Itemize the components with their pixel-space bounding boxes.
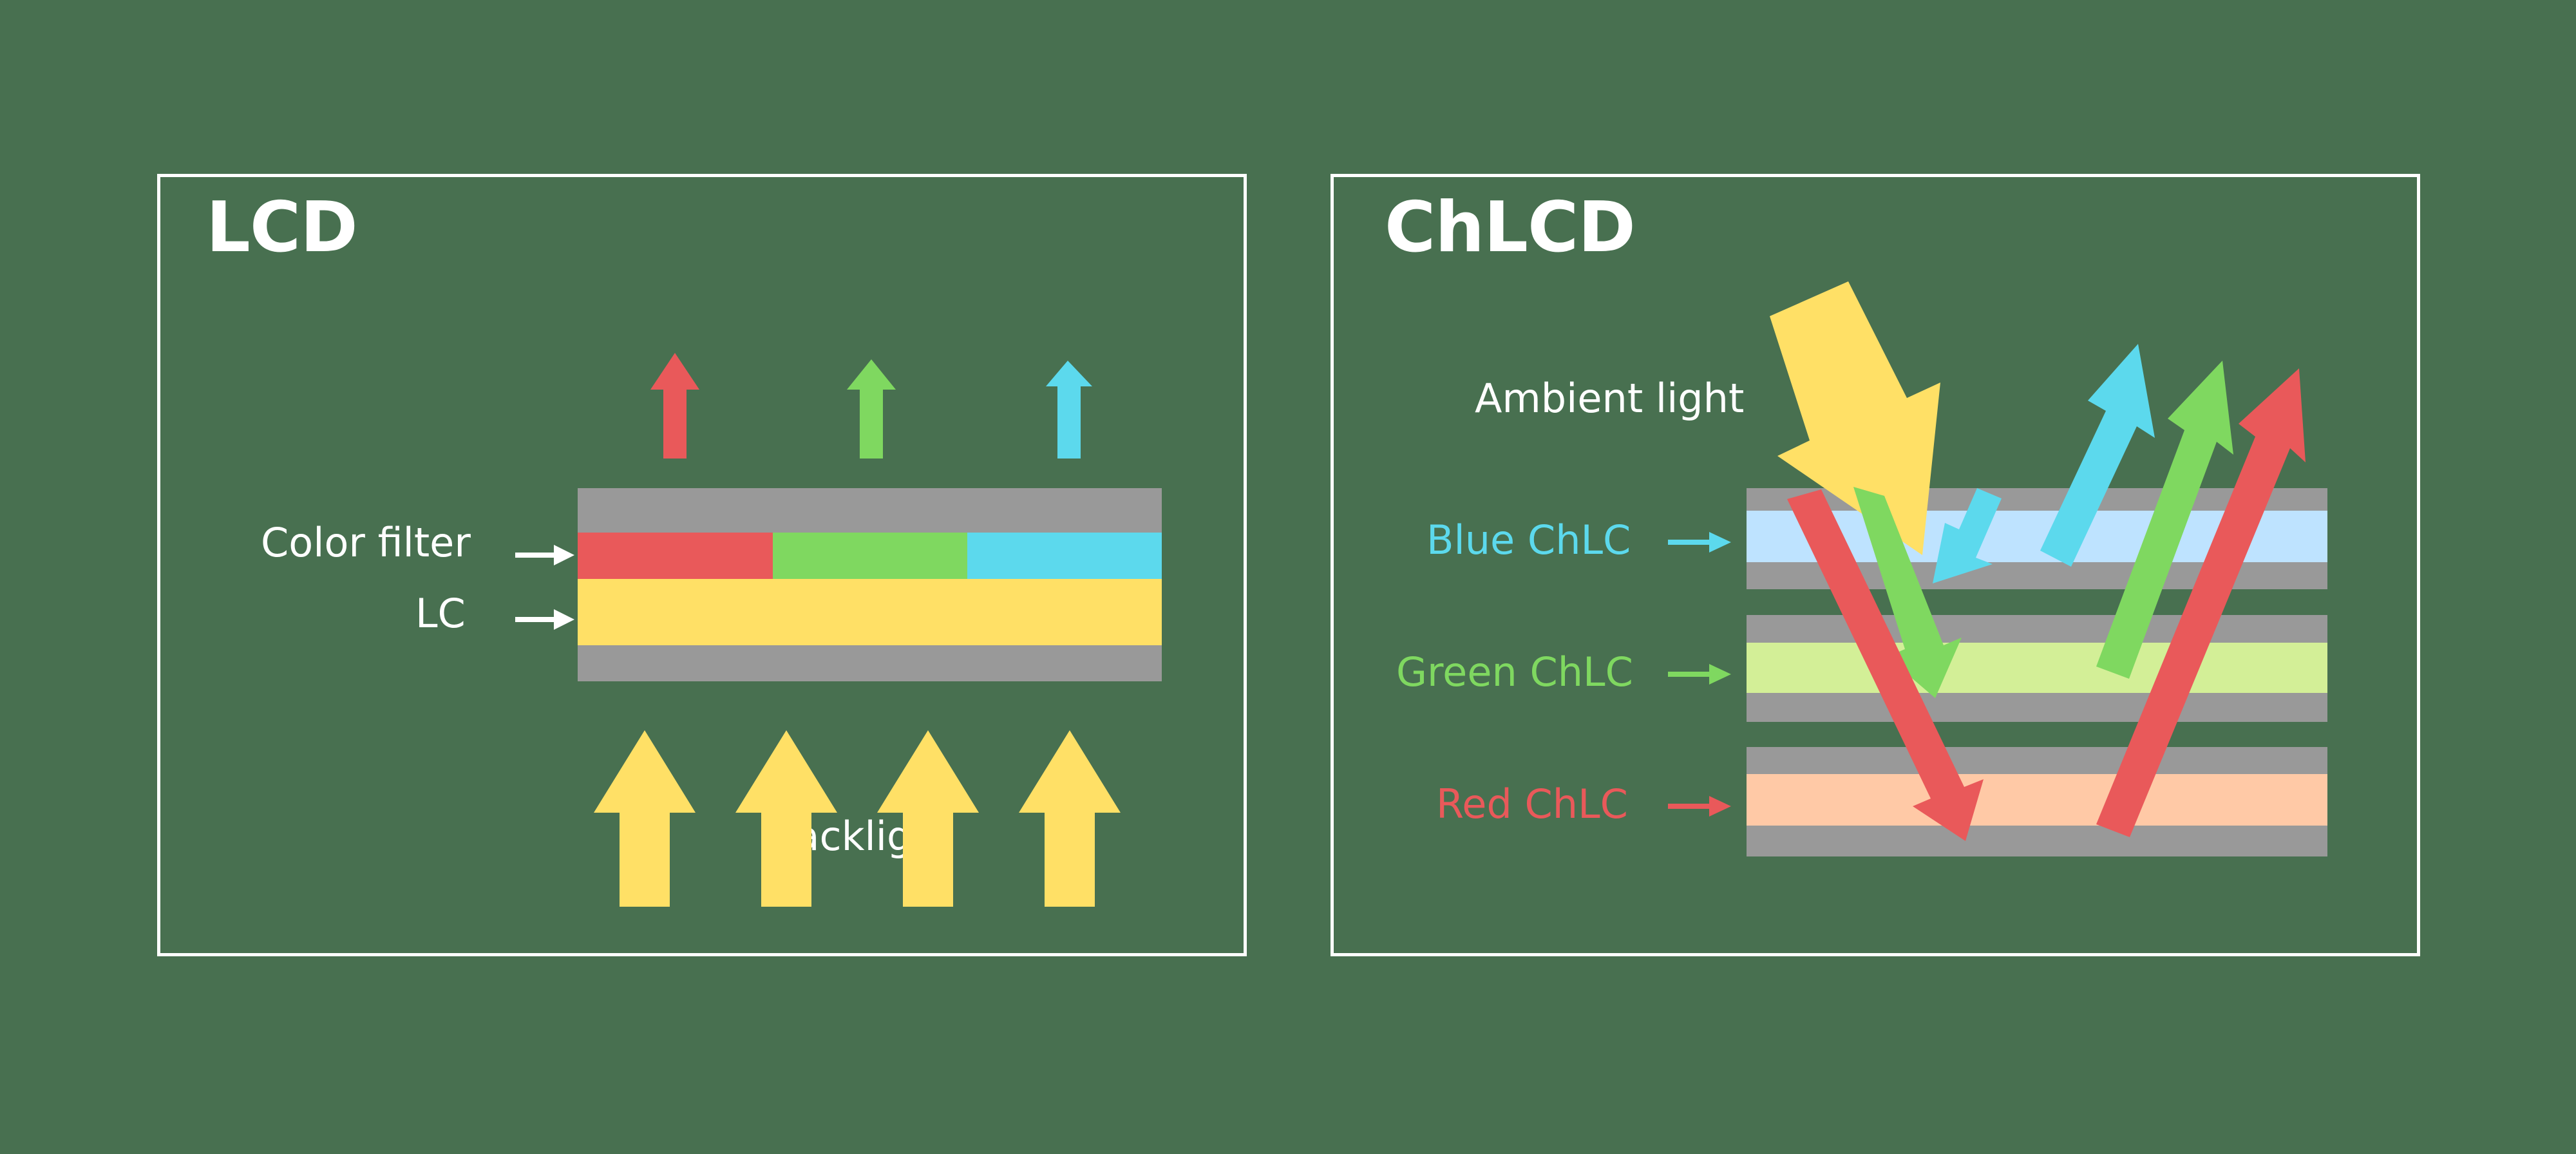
diagram-root: LCD Color filter LC Backlight ChLCD Ambi…: [0, 0, 2576, 1154]
chlcd-green-layer: [1747, 643, 2327, 693]
chlcd-red-top-electrode: [1747, 747, 2327, 774]
chlcd-blue-layer: [1747, 511, 2327, 562]
chlcd-blue-top-electrode: [1747, 488, 2327, 511]
label-lc: LC: [415, 594, 466, 634]
lcd-top-electrode: [578, 488, 1162, 533]
lcd-color-filter-green: [773, 533, 967, 579]
chlcd-blue-bottom-electrode: [1747, 562, 2327, 589]
chlcd-red-bottom-electrode: [1747, 826, 2327, 856]
lcd-liquid-crystal-layer: [578, 579, 1162, 645]
chlcd-green-top-electrode: [1747, 615, 2327, 643]
panel-title-chlcd: ChLCD: [1385, 193, 1635, 263]
chlcd-red-layer: [1747, 774, 2327, 826]
lcd-color-filter-blue: [967, 533, 1162, 579]
label-color-filter: Color filter: [261, 523, 471, 563]
label-blue-chlc: Blue ChLC: [1426, 520, 1631, 560]
chlcd-green-bottom-electrode: [1747, 693, 2327, 722]
label-backlight: Backlight: [768, 817, 953, 856]
label-red-chlc: Red ChLC: [1436, 784, 1628, 824]
label-green-chlc: Green ChLC: [1396, 652, 1633, 692]
lcd-bottom-electrode: [578, 645, 1162, 681]
lcd-color-filter-red: [578, 533, 773, 579]
panel-title-lcd: LCD: [206, 193, 357, 263]
label-ambient-light: Ambient light: [1475, 379, 1744, 419]
